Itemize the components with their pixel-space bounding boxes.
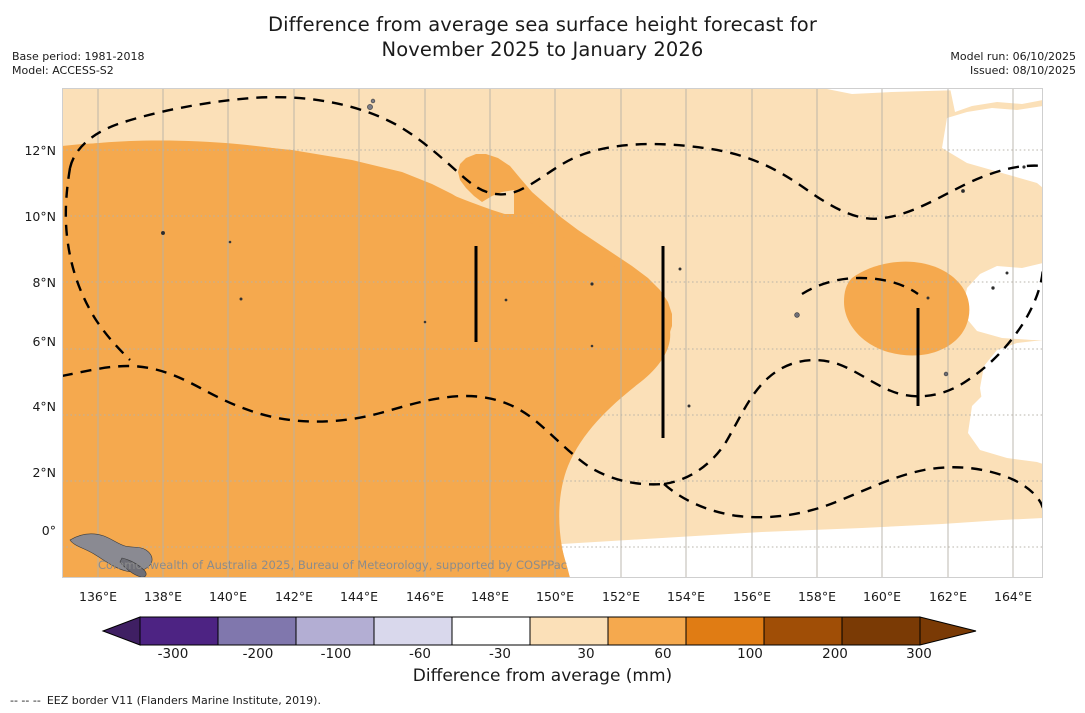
x-tick-160E: 160°E [863,589,901,604]
colorbar-band-0 [140,617,218,645]
x-tick-142E: 142°E [275,589,313,604]
colorbar-band-2 [296,617,374,645]
colorbar-extend-high [920,617,976,645]
land-speck-2 [371,99,375,103]
issued-text: Issued: 08/10/2025 [950,64,1076,78]
colorbar-band-5 [530,617,608,645]
colorbar-band-7 [686,617,764,645]
x-tick-136E: 136°E [79,589,117,604]
x-tick-140E: 140°E [209,589,247,604]
land-speck-10 [927,297,929,299]
title-line-1: Difference from average sea surface heig… [268,13,817,36]
metadata-right: Model run: 06/10/2025 Issued: 08/10/2025 [950,50,1076,78]
x-tick-144E: 144°E [340,589,378,604]
colorbar-extend-low [103,617,140,645]
x-tick-150E: 150°E [536,589,574,604]
x-tick-138E: 138°E [144,589,182,604]
land-speck-5 [505,299,507,301]
land-speck-17 [992,287,995,290]
model-run-text: Model run: 06/10/2025 [950,50,1076,64]
cbar-tick--200: -200 [243,646,274,662]
land-speck-7 [679,268,681,270]
colorbar-band-4 [452,617,530,645]
land-speck-12 [1023,166,1026,169]
cbar-tick--60: -60 [409,646,431,662]
colorbar-svg [0,612,1085,646]
x-tick-162E: 162°E [929,589,967,604]
page-title: Difference from average sea surface heig… [0,12,1085,62]
y-tick-4N: 4°N [0,399,56,414]
y-tick-10N: 10°N [0,209,56,224]
cbar-tick--300: -300 [158,646,189,662]
x-tick-148E: 148°E [471,589,509,604]
y-tick-0: 0° [0,523,56,538]
land-speck-1 [367,104,372,109]
land-speck-6 [591,283,594,286]
land-speck-3 [161,231,164,234]
colorbar[interactable]: -300 -200 -100 -60 -30 30 60 100 200 300 [0,612,1085,658]
eez-legend-dash-icon: -- -- -- [10,694,41,707]
colorbar-band-3 [374,617,452,645]
colorbar-axis-label: Difference from average (mm) [0,666,1085,686]
colorbar-band-9 [842,617,920,645]
cbar-tick-60: 60 [654,646,671,662]
map-plot-area[interactable] [62,88,1043,578]
land-speck-13 [229,241,231,243]
x-tick-146E: 146°E [406,589,444,604]
x-tick-154E: 154°E [667,589,705,604]
cbar-tick--30: -30 [489,646,511,662]
colorbar-band-6 [608,617,686,645]
map-svg [62,88,1043,578]
figure-root: Difference from average sea surface heig… [0,0,1085,713]
x-tick-152E: 152°E [602,589,640,604]
model-text: Model: ACCESS-S2 [12,64,144,78]
cbar-tick-100: 100 [737,646,763,662]
land-speck-4 [240,298,242,300]
land-speck-18 [1006,272,1008,274]
cbar-tick-30: 30 [577,646,594,662]
eez-legend: -- -- -- EEZ border V11 (Flanders Marine… [10,694,321,707]
land-speck-14 [424,321,426,323]
y-tick-12N: 12°N [0,143,56,158]
cbar-tick--100: -100 [321,646,352,662]
base-period-text: Base period: 1981-2018 [12,50,144,64]
x-tick-158E: 158°E [798,589,836,604]
cbar-tick-300: 300 [906,646,932,662]
land-speck-11 [961,189,964,192]
land-speck-16 [688,405,690,407]
x-tick-164E: 164°E [994,589,1032,604]
land-speck-8 [795,313,800,318]
cbar-tick-200: 200 [822,646,848,662]
metadata-left: Base period: 1981-2018 Model: ACCESS-S2 [12,50,144,78]
title-line-2: November 2025 to January 2026 [0,37,1085,62]
y-tick-2N: 2°N [0,465,56,480]
land-speck-9 [944,372,948,376]
colorbar-band-8 [764,617,842,645]
colorbar-band-1 [218,617,296,645]
y-tick-6N: 6°N [0,334,56,349]
y-tick-8N: 8°N [0,275,56,290]
eez-legend-text: EEZ border V11 (Flanders Marine Institut… [47,694,321,707]
land-speck-15 [591,345,593,347]
x-tick-156E: 156°E [733,589,771,604]
